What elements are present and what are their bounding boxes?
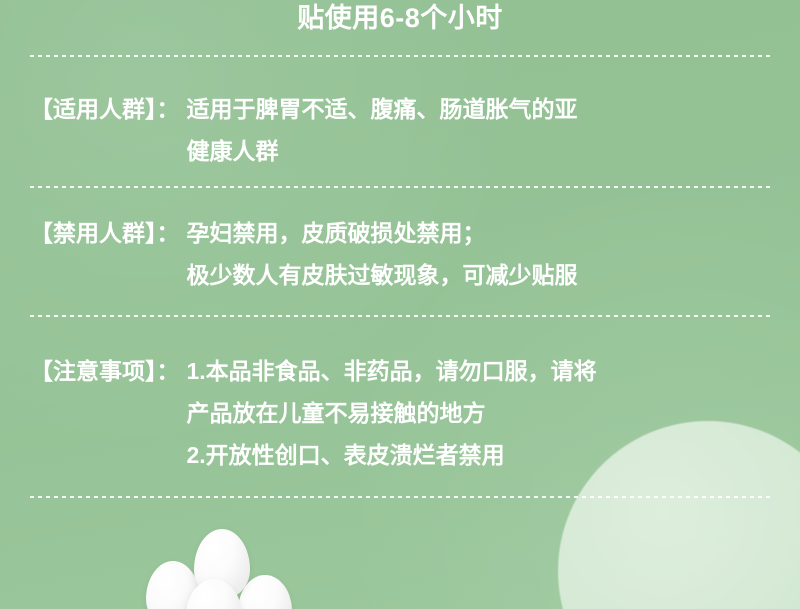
divider-line-1 [30,55,770,57]
divider-line-4 [30,496,770,498]
body-line: 2.开放性创口、表皮溃烂者禁用 [187,434,776,476]
body-line: 孕妇禁用，皮质破损处禁用； [187,212,776,254]
product-info-banner: 贴使用6-8个小时 【适用人群】： 适用于脾胃不适、腹痛、肠道胀气的亚 健康人群… [0,0,800,609]
section-label-applicable: 【适用人群】： [30,88,180,130]
section-body-forbidden: 孕妇禁用，皮质破损处禁用； 极少数人有皮肤过敏现象，可减少贴服 [180,212,776,296]
section-body-applicable: 适用于脾胃不适、腹痛、肠道胀气的亚 健康人群 [180,88,776,172]
section-label-precautions: 【注意事项】： [30,350,180,392]
section-forbidden-population: 【禁用人群】： 孕妇禁用，皮质破损处禁用； 极少数人有皮肤过敏现象，可减少贴服 [30,212,775,296]
body-line: 1.本品非食品、非药品，请勿口服，请将 [187,350,776,392]
divider-line-2 [30,186,770,188]
section-body-precautions: 1.本品非食品、非药品，请勿口服，请将 产品放在儿童不易接触的地方 2.开放性创… [180,350,776,476]
section-applicable-population: 【适用人群】： 适用于脾胃不适、腹痛、肠道胀气的亚 健康人群 [30,88,775,172]
headline-text: 贴使用6-8个小时 [0,0,800,40]
section-label-forbidden: 【禁用人群】： [30,212,180,254]
body-line: 健康人群 [187,130,776,172]
body-line: 产品放在儿童不易接触的地方 [187,392,776,434]
section-precautions: 【注意事项】： 1.本品非食品、非药品，请勿口服，请将 产品放在儿童不易接触的地… [30,350,775,476]
body-line: 极少数人有皮肤过敏现象，可减少贴服 [187,254,776,296]
content-area: 贴使用6-8个小时 【适用人群】： 适用于脾胃不适、腹痛、肠道胀气的亚 健康人群… [0,0,800,609]
divider-line-3 [30,315,770,317]
body-line: 适用于脾胃不适、腹痛、肠道胀气的亚 [187,88,776,130]
